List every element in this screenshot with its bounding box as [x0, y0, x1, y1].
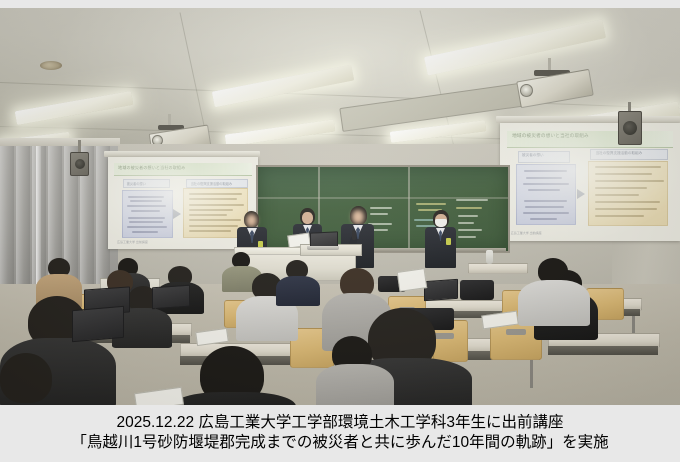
presenter-face-blurred: [246, 214, 257, 227]
projector-lens: [520, 84, 533, 97]
student-body: [276, 276, 320, 306]
desk-right-front: [468, 263, 528, 274]
presenter-right: [423, 210, 459, 268]
slide-tab-left-label: 被災者の想い: [522, 153, 544, 158]
water-bottle: [486, 250, 493, 264]
chair-handle: [434, 333, 454, 339]
slide-tab-right: 当社の復興支援活動の取組み: [186, 179, 248, 188]
presenter-face-blurred: [352, 210, 364, 224]
slide-tab-left: 被災者の想い: [123, 179, 170, 188]
slide-header-bar: 地域の被災者の想いと当社の取組み: [507, 131, 673, 147]
slide-footer: 広島工業大学 出前講座: [117, 240, 148, 244]
speaker-cone: [75, 159, 85, 169]
chair-handle: [506, 329, 526, 335]
slide-arrow: [173, 209, 181, 219]
speaker-cone: [623, 121, 637, 135]
slide-tab-right-label: 当社の復興支援活動の取組み: [596, 151, 643, 156]
student-body: [316, 364, 394, 405]
slide-tab-right-label: 当社の復興支援活動の取組み: [191, 181, 232, 186]
presenter-name-badge: [446, 238, 451, 245]
caption-line-2: 「鳥越川1号砂防堰堤郡完成までの被災者と共に歩んだ10年間の軌跡」を実施: [0, 433, 680, 453]
right-projection-screen: 地域の被災者の想いと当社の取組み 被災者の想い 当社の復興支援活動の取組み: [500, 123, 680, 241]
slide-tab-left: 被災者の想い: [518, 151, 570, 162]
slide-footer: 広島工業大学 出前講座: [511, 231, 542, 235]
presenter-face: [302, 212, 313, 224]
page-root: 地域の被災者の想いと当社の取組み 被災者の想い 当社の復興支援活動の取組み: [0, 0, 680, 462]
blind-slat: [16, 146, 30, 286]
slide-header-title: 地域の被災者の想いと当社の取組み: [512, 133, 589, 139]
blackboard-panel-divider: [408, 167, 410, 251]
student-laptop: [72, 306, 124, 343]
wall-speaker-right: [618, 111, 642, 145]
desk-leg: [530, 360, 533, 388]
caption-line-1: 2025.12.22 広島工業大学工学部環境土木工学科3年生に出前講座: [0, 405, 680, 433]
slide-box-right: [588, 161, 667, 227]
right-slide: 地域の被災者の想いと当社の取組み 被災者の想い 当社の復興支援活動の取組み: [500, 123, 680, 241]
student-body: [518, 280, 590, 326]
right-screen-case: [496, 116, 680, 123]
ceiling-vent: [40, 61, 62, 70]
caption: 2025.12.22 広島工業大学工学部環境土木工学科3年生に出前講座 「鳥越川…: [0, 405, 680, 462]
blind-light-gap: [36, 146, 41, 286]
ceiling-speaker-left: [70, 152, 89, 176]
slide-box-left: [122, 190, 174, 238]
slide-tab-right: 当社の復興支援活動の取組み: [590, 149, 668, 160]
slide-tab-left-label: 被災者の想い: [127, 181, 146, 186]
slide-header-title: 地域の被災者の想いと当社の取組み: [118, 165, 185, 171]
handout-papers: [397, 268, 428, 292]
student-head-foreground: [0, 353, 52, 403]
blind-slat: [0, 146, 14, 286]
desk-front-panel: [548, 346, 658, 355]
student-laptop: [424, 279, 458, 301]
ceiling-projector-right: [506, 58, 596, 108]
presenter-laptop-base: [307, 246, 339, 250]
microphone: [352, 230, 356, 240]
slide-box-left: [516, 164, 576, 225]
student-laptop: [152, 285, 190, 310]
slide-arrow: [577, 189, 585, 199]
slide-header-bar: 地域の被災者の想いと当社の取組み: [114, 163, 252, 176]
lecture-photo: 地域の被災者の想いと当社の取組み 被災者の想い 当社の復興支援活動の取組み: [0, 8, 680, 405]
bag: [460, 280, 494, 300]
face-mask: [435, 219, 447, 227]
